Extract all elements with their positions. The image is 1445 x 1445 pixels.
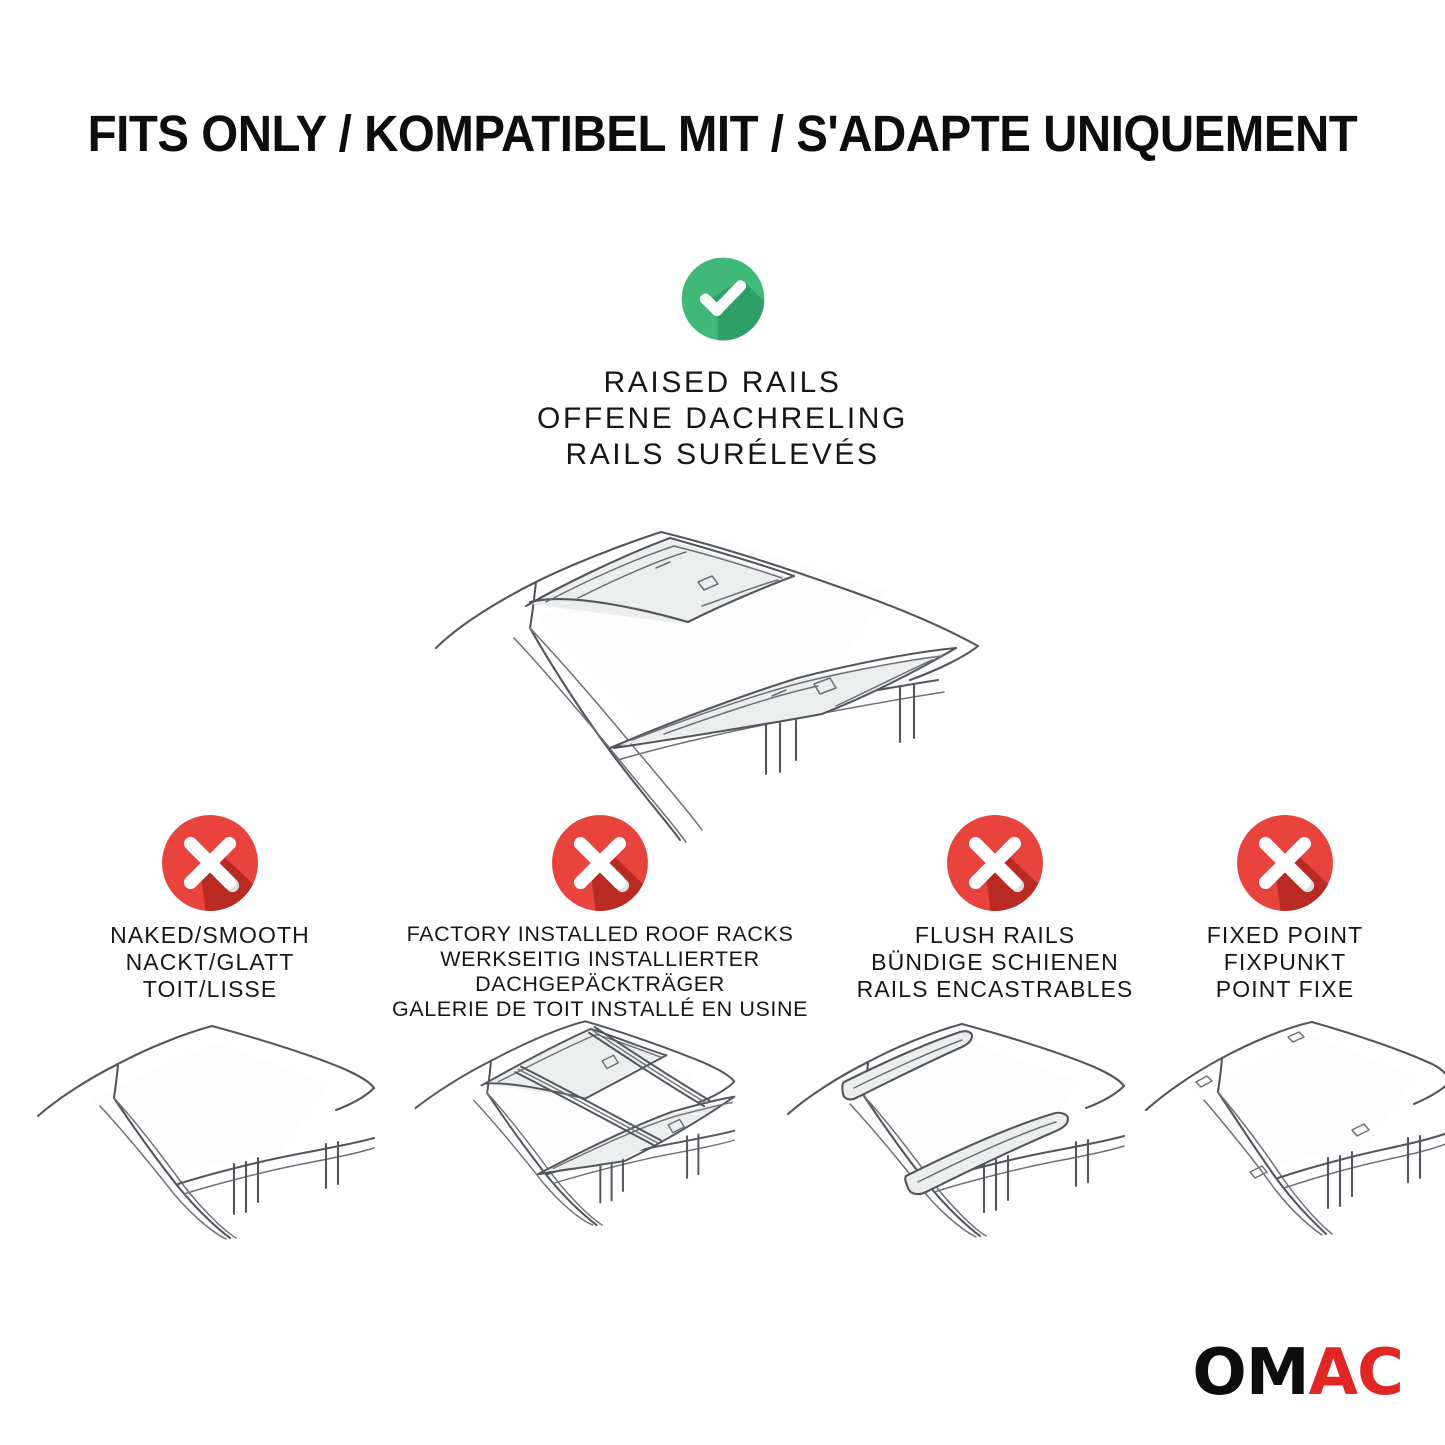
label-line-de-2: DACHGEPÄCKTRÄGER xyxy=(378,972,822,997)
x-circle-icon xyxy=(944,812,1046,914)
brand-logo: OMAC xyxy=(1192,1341,1403,1405)
label-line-de: BÜNDIGE SCHIENEN xyxy=(825,949,1165,976)
incompatible-section: NAKED/SMOOTH NACKT/GLATT TOIT/LISSE xyxy=(0,812,1445,1232)
incompatible-label-factory-roof-racks: FACTORY INSTALLED ROOF RACKS WERKSEITIG … xyxy=(378,922,822,1022)
label-line-en: FIXED POINT xyxy=(1150,922,1420,949)
label-line-fr: TOIT/LISSE xyxy=(40,976,380,1003)
x-circle-icon xyxy=(159,812,261,914)
compatible-label-fr: RAILS SURÉLEVÉS xyxy=(0,437,1445,473)
car-roof-with-flush-rails-illustration xyxy=(780,1022,1125,1237)
car-roof-bare-smooth-illustration xyxy=(30,1024,375,1239)
label-line-fr: RAILS ENCASTRABLES xyxy=(825,976,1165,1003)
incompatible-item-flush-rails: FLUSH RAILS BÜNDIGE SCHIENEN RAILS ENCAS… xyxy=(825,812,1165,1003)
x-circle-icon xyxy=(549,812,651,914)
car-roof-with-factory-crossbars-illustration xyxy=(400,1010,745,1225)
compatible-label-de: OFFENE DACHRELING xyxy=(0,401,1445,437)
compatible-label: RAISED RAILS OFFENE DACHRELING RAILS SUR… xyxy=(0,365,1445,473)
compatible-section: RAISED RAILS OFFENE DACHRELING RAILS SUR… xyxy=(0,255,1445,473)
check-circle-icon xyxy=(679,255,767,343)
fitment-infographic: FITS ONLY / KOMPATIBEL MIT / S'ADAPTE UN… xyxy=(0,0,1445,1445)
label-line-en: FLUSH RAILS xyxy=(825,922,1165,949)
incompatible-label-fixed-point: FIXED POINT FIXPUNKT POINT FIXE xyxy=(1150,922,1420,1003)
label-line-en: FACTORY INSTALLED ROOF RACKS xyxy=(378,922,822,947)
compatible-label-en: RAISED RAILS xyxy=(0,365,1445,401)
incompatible-item-naked-smooth: NAKED/SMOOTH NACKT/GLATT TOIT/LISSE xyxy=(40,812,380,1003)
incompatible-item-factory-roof-racks: FACTORY INSTALLED ROOF RACKS WERKSEITIG … xyxy=(378,812,822,1022)
incompatible-item-fixed-point: FIXED POINT FIXPUNKT POINT FIXE xyxy=(1150,812,1420,1003)
label-line-de: NACKT/GLATT xyxy=(40,949,380,976)
incompatible-label-naked-smooth: NAKED/SMOOTH NACKT/GLATT TOIT/LISSE xyxy=(40,922,380,1003)
car-roof-with-raised-rails-illustration xyxy=(418,498,1028,798)
incompatible-label-flush-rails: FLUSH RAILS BÜNDIGE SCHIENEN RAILS ENCAS… xyxy=(825,922,1165,1003)
label-line-de-1: WERKSEITIG INSTALLIERTER xyxy=(378,947,822,972)
logo-text-om: OM xyxy=(1192,1336,1308,1410)
car-roof-with-fixed-points-illustration xyxy=(1140,1020,1445,1235)
label-line-en: NAKED/SMOOTH xyxy=(40,922,380,949)
page-title: FITS ONLY / KOMPATIBEL MIT / S'ADAPTE UN… xyxy=(51,104,1395,164)
label-line-de: FIXPUNKT xyxy=(1150,949,1420,976)
logo-text-ac: AC xyxy=(1309,1336,1404,1410)
x-circle-icon xyxy=(1234,812,1336,914)
label-line-fr: POINT FIXE xyxy=(1150,976,1420,1003)
